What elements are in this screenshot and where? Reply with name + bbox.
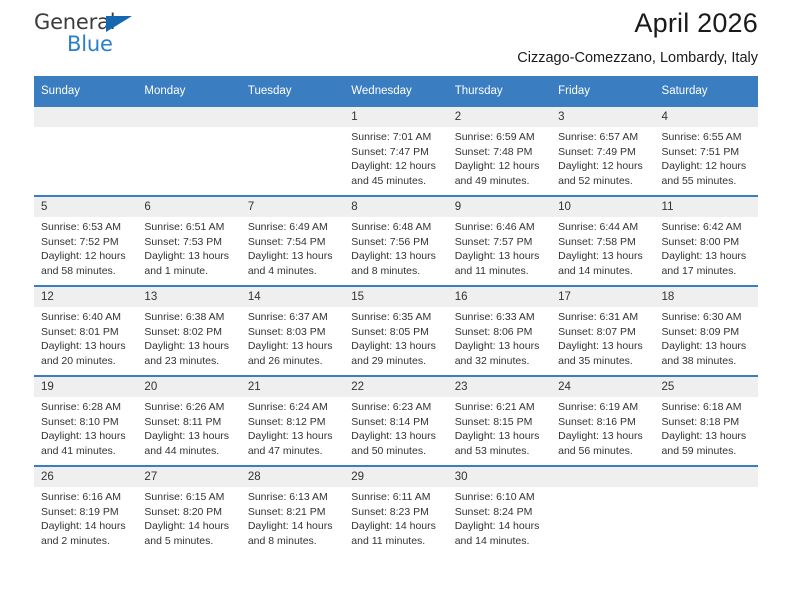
day-details: Sunrise: 6:19 AMSunset: 8:16 PMDaylight:… [551,397,654,458]
calendar-day-cell-empty [137,106,240,196]
daylight-text: Daylight: 13 hours and 29 minutes. [351,339,441,368]
sunrise-text: Sunrise: 6:42 AM [662,220,752,235]
day-number: 3 [551,107,654,127]
weekday-header-sunday: Sunday [34,76,137,106]
calendar-day-cell[interactable]: 11Sunrise: 6:42 AMSunset: 8:00 PMDayligh… [655,196,758,286]
daylight-text: Daylight: 13 hours and 23 minutes. [144,339,234,368]
sunrise-sunset-calendar: Sunday Monday Tuesday Wednesday Thursday… [34,76,758,555]
daylight-text: Daylight: 13 hours and 1 minute. [144,249,234,278]
daylight-text: Daylight: 14 hours and 11 minutes. [351,519,441,548]
calendar-day-cell[interactable]: 14Sunrise: 6:37 AMSunset: 8:03 PMDayligh… [241,286,344,376]
daylight-text: Daylight: 13 hours and 17 minutes. [662,249,752,278]
page-header: General Blue April 2026 Cizzago-Comezzan… [34,0,758,72]
calendar-body: 1Sunrise: 7:01 AMSunset: 7:47 PMDaylight… [34,106,758,555]
sunrise-text: Sunrise: 6:26 AM [144,400,234,415]
sunrise-text: Sunrise: 6:23 AM [351,400,441,415]
calendar-day-cell[interactable]: 23Sunrise: 6:21 AMSunset: 8:15 PMDayligh… [448,376,551,466]
sunset-text: Sunset: 7:53 PM [144,235,234,250]
daylight-text: Daylight: 13 hours and 20 minutes. [41,339,131,368]
sunset-text: Sunset: 8:18 PM [662,415,752,430]
weekday-header-saturday: Saturday [655,76,758,106]
weekday-header-monday: Monday [137,76,240,106]
sunrise-text: Sunrise: 7:01 AM [351,130,441,145]
day-number: 30 [448,467,551,487]
day-number: 27 [137,467,240,487]
weekday-header-friday: Friday [551,76,654,106]
sunset-text: Sunset: 8:00 PM [662,235,752,250]
day-number: 22 [344,377,447,397]
sunset-text: Sunset: 7:51 PM [662,145,752,160]
daylight-text: Daylight: 14 hours and 8 minutes. [248,519,338,548]
calendar-day-cell[interactable]: 2Sunrise: 6:59 AMSunset: 7:48 PMDaylight… [448,106,551,196]
day-number: 7 [241,197,344,217]
day-details: Sunrise: 6:37 AMSunset: 8:03 PMDaylight:… [241,307,344,368]
day-number: 16 [448,287,551,307]
daylight-text: Daylight: 14 hours and 2 minutes. [41,519,131,548]
calendar-day-cell[interactable]: 15Sunrise: 6:35 AMSunset: 8:05 PMDayligh… [344,286,447,376]
day-number [551,467,654,487]
sunrise-text: Sunrise: 6:24 AM [248,400,338,415]
sunset-text: Sunset: 7:49 PM [558,145,648,160]
sunrise-text: Sunrise: 6:35 AM [351,310,441,325]
calendar-day-cell[interactable]: 16Sunrise: 6:33 AMSunset: 8:06 PMDayligh… [448,286,551,376]
logo-triangle-icon [106,16,132,32]
day-details: Sunrise: 6:13 AMSunset: 8:21 PMDaylight:… [241,487,344,548]
sunrise-text: Sunrise: 6:40 AM [41,310,131,325]
daylight-text: Daylight: 13 hours and 11 minutes. [455,249,545,278]
sunset-text: Sunset: 7:58 PM [558,235,648,250]
sunrise-text: Sunrise: 6:44 AM [558,220,648,235]
day-details: Sunrise: 6:18 AMSunset: 8:18 PMDaylight:… [655,397,758,458]
day-details: Sunrise: 6:31 AMSunset: 8:07 PMDaylight:… [551,307,654,368]
sunset-text: Sunset: 8:06 PM [455,325,545,340]
calendar-day-cell-empty [241,106,344,196]
daylight-text: Daylight: 12 hours and 58 minutes. [41,249,131,278]
sunset-text: Sunset: 7:47 PM [351,145,441,160]
day-number [34,107,137,127]
sunrise-text: Sunrise: 6:59 AM [455,130,545,145]
calendar-day-cell[interactable]: 26Sunrise: 6:16 AMSunset: 8:19 PMDayligh… [34,466,137,555]
calendar-day-cell[interactable]: 10Sunrise: 6:44 AMSunset: 7:58 PMDayligh… [551,196,654,286]
day-number: 28 [241,467,344,487]
weekday-header-wednesday: Wednesday [344,76,447,106]
day-number: 18 [655,287,758,307]
sunset-text: Sunset: 8:21 PM [248,505,338,520]
daylight-text: Daylight: 13 hours and 59 minutes. [662,429,752,458]
day-details: Sunrise: 6:15 AMSunset: 8:20 PMDaylight:… [137,487,240,548]
calendar-day-cell[interactable]: 25Sunrise: 6:18 AMSunset: 8:18 PMDayligh… [655,376,758,466]
sunset-text: Sunset: 8:20 PM [144,505,234,520]
day-details: Sunrise: 6:38 AMSunset: 8:02 PMDaylight:… [137,307,240,368]
day-details: Sunrise: 6:24 AMSunset: 8:12 PMDaylight:… [241,397,344,458]
weekday-header-row: Sunday Monday Tuesday Wednesday Thursday… [34,76,758,106]
sunset-text: Sunset: 8:23 PM [351,505,441,520]
sunrise-text: Sunrise: 6:15 AM [144,490,234,505]
daylight-text: Daylight: 13 hours and 44 minutes. [144,429,234,458]
day-details: Sunrise: 6:59 AMSunset: 7:48 PMDaylight:… [448,127,551,188]
daylight-text: Daylight: 13 hours and 4 minutes. [248,249,338,278]
day-details: Sunrise: 6:51 AMSunset: 7:53 PMDaylight:… [137,217,240,278]
daylight-text: Daylight: 13 hours and 8 minutes. [351,249,441,278]
daylight-text: Daylight: 13 hours and 32 minutes. [455,339,545,368]
day-number: 12 [34,287,137,307]
day-details: Sunrise: 6:53 AMSunset: 7:52 PMDaylight:… [34,217,137,278]
day-number: 4 [655,107,758,127]
daylight-text: Daylight: 13 hours and 53 minutes. [455,429,545,458]
calendar-week-row: 5Sunrise: 6:53 AMSunset: 7:52 PMDaylight… [34,196,758,286]
daylight-text: Daylight: 13 hours and 56 minutes. [558,429,648,458]
day-details: Sunrise: 6:23 AMSunset: 8:14 PMDaylight:… [344,397,447,458]
sunset-text: Sunset: 7:56 PM [351,235,441,250]
sunrise-text: Sunrise: 6:30 AM [662,310,752,325]
day-number: 25 [655,377,758,397]
sunset-text: Sunset: 8:16 PM [558,415,648,430]
sunset-text: Sunset: 8:19 PM [41,505,131,520]
logo-text-general: General [34,10,115,34]
day-number: 10 [551,197,654,217]
day-number: 13 [137,287,240,307]
calendar-day-cell[interactable]: 18Sunrise: 6:30 AMSunset: 8:09 PMDayligh… [655,286,758,376]
day-details: Sunrise: 6:46 AMSunset: 7:57 PMDaylight:… [448,217,551,278]
calendar-day-cell-empty [551,466,654,555]
sunrise-text: Sunrise: 6:13 AM [248,490,338,505]
sunset-text: Sunset: 8:09 PM [662,325,752,340]
sunset-text: Sunset: 8:03 PM [248,325,338,340]
day-details: Sunrise: 6:11 AMSunset: 8:23 PMDaylight:… [344,487,447,548]
calendar-week-row: 26Sunrise: 6:16 AMSunset: 8:19 PMDayligh… [34,466,758,555]
sunset-text: Sunset: 7:54 PM [248,235,338,250]
sunset-text: Sunset: 8:14 PM [351,415,441,430]
daylight-text: Daylight: 13 hours and 26 minutes. [248,339,338,368]
day-details: Sunrise: 6:33 AMSunset: 8:06 PMDaylight:… [448,307,551,368]
logo-text-blue: Blue [67,34,154,55]
weekday-header-tuesday: Tuesday [241,76,344,106]
calendar-day-cell[interactable]: 29Sunrise: 6:11 AMSunset: 8:23 PMDayligh… [344,466,447,555]
sunset-text: Sunset: 8:12 PM [248,415,338,430]
day-number: 1 [344,107,447,127]
day-details: Sunrise: 6:35 AMSunset: 8:05 PMDaylight:… [344,307,447,368]
sunset-text: Sunset: 7:48 PM [455,145,545,160]
day-details: Sunrise: 6:16 AMSunset: 8:19 PMDaylight:… [34,487,137,548]
calendar-week-row: 1Sunrise: 7:01 AMSunset: 7:47 PMDaylight… [34,106,758,196]
day-number: 9 [448,197,551,217]
sunrise-text: Sunrise: 6:49 AM [248,220,338,235]
day-number: 20 [137,377,240,397]
day-details: Sunrise: 6:26 AMSunset: 8:11 PMDaylight:… [137,397,240,458]
general-blue-logo: General Blue [34,12,154,60]
day-details: Sunrise: 6:57 AMSunset: 7:49 PMDaylight:… [551,127,654,188]
day-number: 5 [34,197,137,217]
daylight-text: Daylight: 13 hours and 47 minutes. [248,429,338,458]
daylight-text: Daylight: 13 hours and 50 minutes. [351,429,441,458]
sunset-text: Sunset: 8:24 PM [455,505,545,520]
day-number: 2 [448,107,551,127]
sunrise-text: Sunrise: 6:55 AM [662,130,752,145]
sunrise-text: Sunrise: 6:19 AM [558,400,648,415]
day-details: Sunrise: 6:55 AMSunset: 7:51 PMDaylight:… [655,127,758,188]
day-details: Sunrise: 6:30 AMSunset: 8:09 PMDaylight:… [655,307,758,368]
day-number: 23 [448,377,551,397]
day-number [241,107,344,127]
calendar-week-row: 19Sunrise: 6:28 AMSunset: 8:10 PMDayligh… [34,376,758,466]
day-number: 26 [34,467,137,487]
sunrise-text: Sunrise: 6:28 AM [41,400,131,415]
daylight-text: Daylight: 13 hours and 41 minutes. [41,429,131,458]
calendar-day-cell[interactable]: 6Sunrise: 6:51 AMSunset: 7:53 PMDaylight… [137,196,240,286]
calendar-day-cell[interactable]: 5Sunrise: 6:53 AMSunset: 7:52 PMDaylight… [34,196,137,286]
daylight-text: Daylight: 13 hours and 14 minutes. [558,249,648,278]
calendar-day-cell[interactable]: 24Sunrise: 6:19 AMSunset: 8:16 PMDayligh… [551,376,654,466]
daylight-text: Daylight: 12 hours and 49 minutes. [455,159,545,188]
day-details: Sunrise: 6:10 AMSunset: 8:24 PMDaylight:… [448,487,551,548]
daylight-text: Daylight: 12 hours and 45 minutes. [351,159,441,188]
sunrise-text: Sunrise: 6:46 AM [455,220,545,235]
calendar-day-cell[interactable]: 7Sunrise: 6:49 AMSunset: 7:54 PMDaylight… [241,196,344,286]
sunrise-text: Sunrise: 6:11 AM [351,490,441,505]
sunrise-text: Sunrise: 6:53 AM [41,220,131,235]
calendar-day-cell[interactable]: 22Sunrise: 6:23 AMSunset: 8:14 PMDayligh… [344,376,447,466]
calendar-day-cell[interactable]: 13Sunrise: 6:38 AMSunset: 8:02 PMDayligh… [137,286,240,376]
sunset-text: Sunset: 8:11 PM [144,415,234,430]
day-number: 6 [137,197,240,217]
sunset-text: Sunset: 8:07 PM [558,325,648,340]
page-subtitle-location: Cizzago-Comezzano, Lombardy, Italy [517,50,758,66]
day-details: Sunrise: 7:01 AMSunset: 7:47 PMDaylight:… [344,127,447,188]
sunset-text: Sunset: 7:57 PM [455,235,545,250]
sunrise-text: Sunrise: 6:10 AM [455,490,545,505]
calendar-day-cell[interactable]: 4Sunrise: 6:55 AMSunset: 7:51 PMDaylight… [655,106,758,196]
calendar-day-cell[interactable]: 21Sunrise: 6:24 AMSunset: 8:12 PMDayligh… [241,376,344,466]
day-number: 24 [551,377,654,397]
day-number: 19 [34,377,137,397]
daylight-text: Daylight: 13 hours and 35 minutes. [558,339,648,368]
sunrise-text: Sunrise: 6:31 AM [558,310,648,325]
day-details: Sunrise: 6:44 AMSunset: 7:58 PMDaylight:… [551,217,654,278]
day-number: 11 [655,197,758,217]
day-details: Sunrise: 6:48 AMSunset: 7:56 PMDaylight:… [344,217,447,278]
day-number: 29 [344,467,447,487]
calendar-day-cell[interactable]: 28Sunrise: 6:13 AMSunset: 8:21 PMDayligh… [241,466,344,555]
day-number: 14 [241,287,344,307]
sunset-text: Sunset: 7:52 PM [41,235,131,250]
calendar-page: General Blue April 2026 Cizzago-Comezzan… [0,0,792,612]
sunrise-text: Sunrise: 6:33 AM [455,310,545,325]
sunset-text: Sunset: 8:15 PM [455,415,545,430]
daylight-text: Daylight: 14 hours and 5 minutes. [144,519,234,548]
day-number: 21 [241,377,344,397]
sunrise-text: Sunrise: 6:48 AM [351,220,441,235]
sunrise-text: Sunrise: 6:37 AM [248,310,338,325]
calendar-day-cell[interactable]: 19Sunrise: 6:28 AMSunset: 8:10 PMDayligh… [34,376,137,466]
calendar-day-cell[interactable]: 12Sunrise: 6:40 AMSunset: 8:01 PMDayligh… [34,286,137,376]
day-number [137,107,240,127]
daylight-text: Daylight: 12 hours and 52 minutes. [558,159,648,188]
day-details: Sunrise: 6:49 AMSunset: 7:54 PMDaylight:… [241,217,344,278]
daylight-text: Daylight: 14 hours and 14 minutes. [455,519,545,548]
calendar-day-cell[interactable]: 8Sunrise: 6:48 AMSunset: 7:56 PMDaylight… [344,196,447,286]
calendar-day-cell-empty [655,466,758,555]
calendar-day-cell[interactable]: 1Sunrise: 7:01 AMSunset: 7:47 PMDaylight… [344,106,447,196]
daylight-text: Daylight: 12 hours and 55 minutes. [662,159,752,188]
title-block: April 2026 Cizzago-Comezzano, Lombardy, … [517,8,758,66]
sunset-text: Sunset: 8:02 PM [144,325,234,340]
day-number [655,467,758,487]
page-title: April 2026 [517,8,758,39]
day-number: 17 [551,287,654,307]
calendar-day-cell[interactable]: 30Sunrise: 6:10 AMSunset: 8:24 PMDayligh… [448,466,551,555]
calendar-day-cell[interactable]: 20Sunrise: 6:26 AMSunset: 8:11 PMDayligh… [137,376,240,466]
sunrise-text: Sunrise: 6:18 AM [662,400,752,415]
day-number: 8 [344,197,447,217]
sunset-text: Sunset: 8:01 PM [41,325,131,340]
sunrise-text: Sunrise: 6:21 AM [455,400,545,415]
sunrise-text: Sunrise: 6:51 AM [144,220,234,235]
calendar-week-row: 12Sunrise: 6:40 AMSunset: 8:01 PMDayligh… [34,286,758,376]
sunset-text: Sunset: 8:10 PM [41,415,131,430]
sunrise-text: Sunrise: 6:38 AM [144,310,234,325]
day-details: Sunrise: 6:28 AMSunset: 8:10 PMDaylight:… [34,397,137,458]
sunrise-text: Sunrise: 6:16 AM [41,490,131,505]
calendar-day-cell-empty [34,106,137,196]
calendar-day-cell[interactable]: 17Sunrise: 6:31 AMSunset: 8:07 PMDayligh… [551,286,654,376]
weekday-header-thursday: Thursday [448,76,551,106]
sunset-text: Sunset: 8:05 PM [351,325,441,340]
day-number: 15 [344,287,447,307]
sunrise-text: Sunrise: 6:57 AM [558,130,648,145]
day-details: Sunrise: 6:40 AMSunset: 8:01 PMDaylight:… [34,307,137,368]
calendar-day-cell[interactable]: 3Sunrise: 6:57 AMSunset: 7:49 PMDaylight… [551,106,654,196]
day-details: Sunrise: 6:42 AMSunset: 8:00 PMDaylight:… [655,217,758,278]
daylight-text: Daylight: 13 hours and 38 minutes. [662,339,752,368]
day-details: Sunrise: 6:21 AMSunset: 8:15 PMDaylight:… [448,397,551,458]
calendar-day-cell[interactable]: 27Sunrise: 6:15 AMSunset: 8:20 PMDayligh… [137,466,240,555]
calendar-day-cell[interactable]: 9Sunrise: 6:46 AMSunset: 7:57 PMDaylight… [448,196,551,286]
